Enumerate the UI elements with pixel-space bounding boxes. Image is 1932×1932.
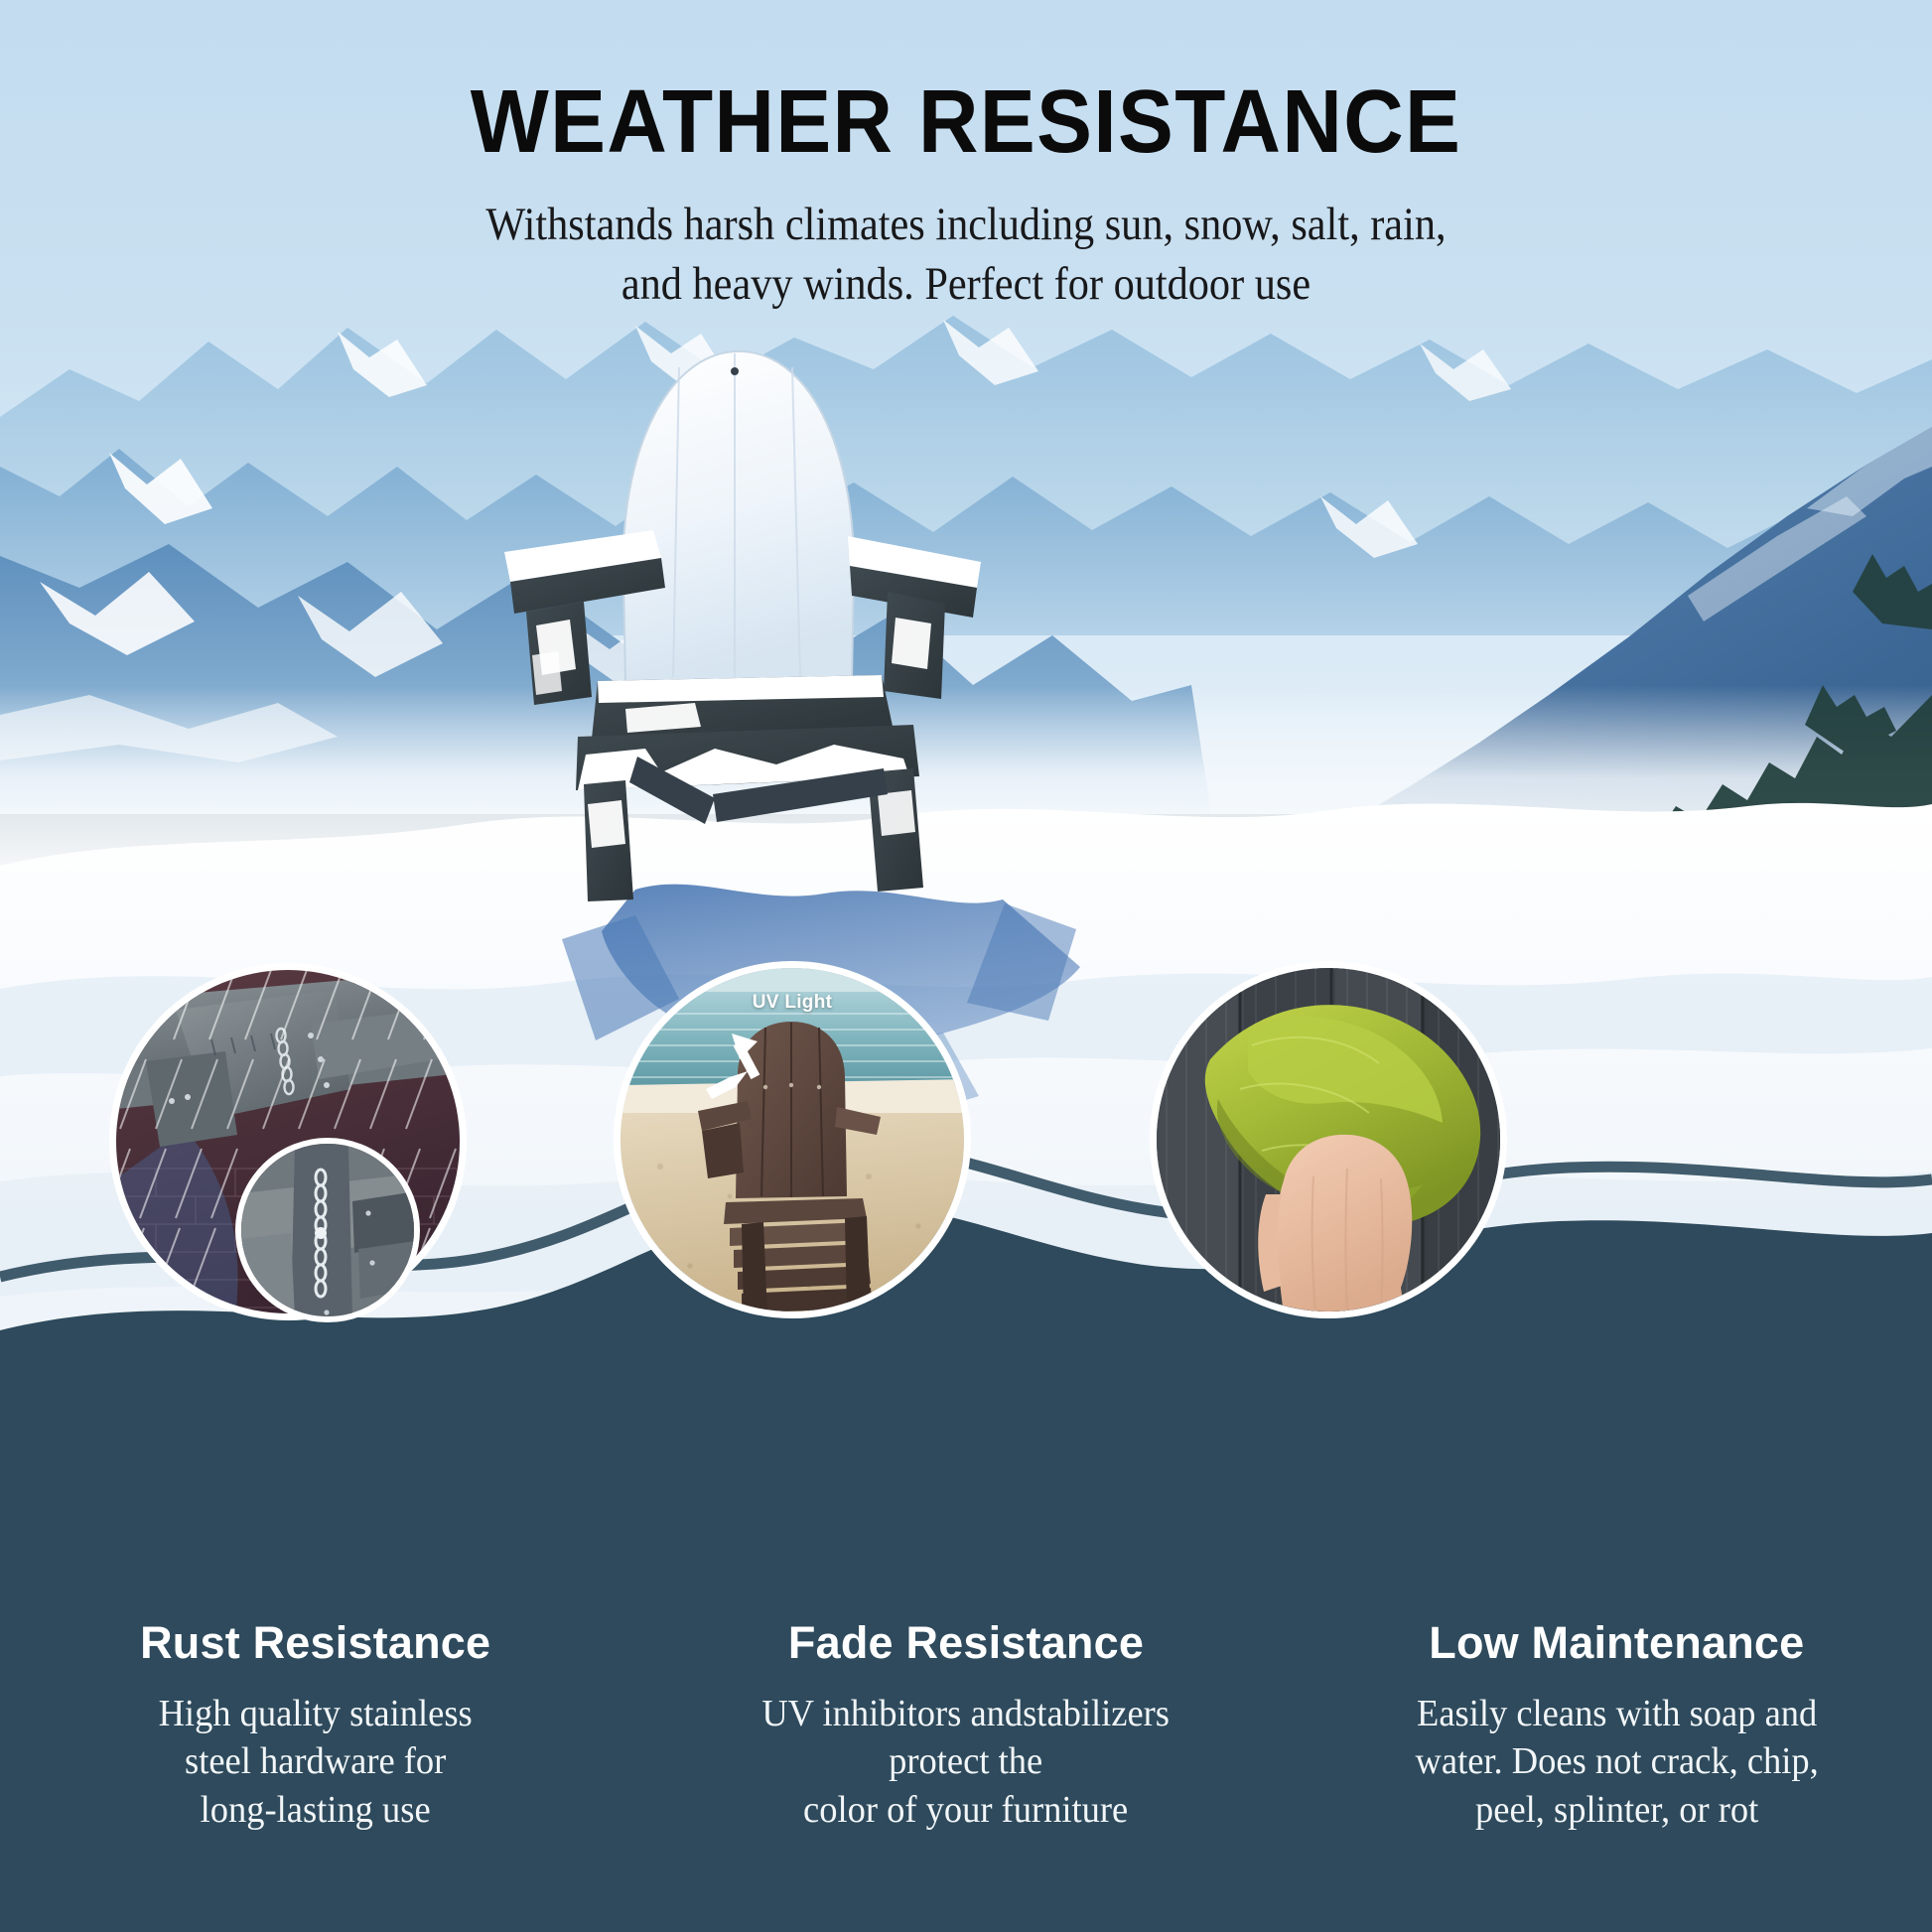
feature-body-fade-line-2: protect the xyxy=(889,1740,1042,1782)
infographic-canvas: WEATHER RESISTANCE Withstands harsh clim… xyxy=(0,0,1932,1932)
feature-title-rust: Rust Resistance xyxy=(8,1618,622,1668)
features-row: Rust Resistance High quality stainless s… xyxy=(0,1618,1932,1834)
feature-body-fade-line-1: UV inhibitors andstabilizers xyxy=(762,1693,1171,1734)
feature-body-fade: UV inhibitors andstabilizers protect the… xyxy=(671,1668,1262,1835)
feature-body-low-line-1: Easily cleans with soap and xyxy=(1417,1693,1817,1734)
feature-rust-resistance: Rust Resistance High quality stainless s… xyxy=(0,1618,640,1834)
hero-chair-snow-covered xyxy=(467,328,1023,903)
feature-body-low-maintenance: Easily cleans with soap and water. Does … xyxy=(1321,1668,1912,1835)
subtitle-line-2: and heavy winds. Perfect for outdoor use xyxy=(621,258,1311,310)
feature-body-low-line-3: peel, splinter, or rot xyxy=(1475,1789,1758,1831)
uv-light-label: UV Light xyxy=(621,992,964,1014)
feature-title-low-maintenance: Low Maintenance xyxy=(1310,1618,1924,1668)
subtitle-line-1: Withstands harsh climates including sun,… xyxy=(485,199,1446,250)
feature-image-rust-inset-chain xyxy=(235,1138,420,1322)
feature-image-low-maintenance xyxy=(1150,961,1507,1318)
page-subtitle: Withstands harsh climates including sun,… xyxy=(96,167,1835,314)
header-block: WEATHER RESISTANCE Withstands harsh clim… xyxy=(0,0,1932,314)
feature-fade-resistance: Fade Resistance UV inhibitors andstabili… xyxy=(640,1618,1291,1834)
feature-image-fade-resistance: UV Light xyxy=(614,961,971,1318)
page-title: WEATHER RESISTANCE xyxy=(68,0,1864,167)
feature-body-rust-line-2: steel hardware for xyxy=(185,1740,446,1782)
feature-body-rust-line-1: High quality stainless xyxy=(159,1693,473,1734)
feature-body-low-line-2: water. Does not crack, chip, xyxy=(1415,1740,1818,1782)
feature-body-rust-line-3: long-lasting use xyxy=(201,1789,431,1831)
feature-body-fade-line-3: color of your furniture xyxy=(803,1789,1128,1831)
feature-title-fade: Fade Resistance xyxy=(658,1618,1273,1668)
feature-body-rust: High quality stainless steel hardware fo… xyxy=(20,1668,611,1835)
feature-low-maintenance: Low Maintenance Easily cleans with soap … xyxy=(1292,1618,1932,1834)
